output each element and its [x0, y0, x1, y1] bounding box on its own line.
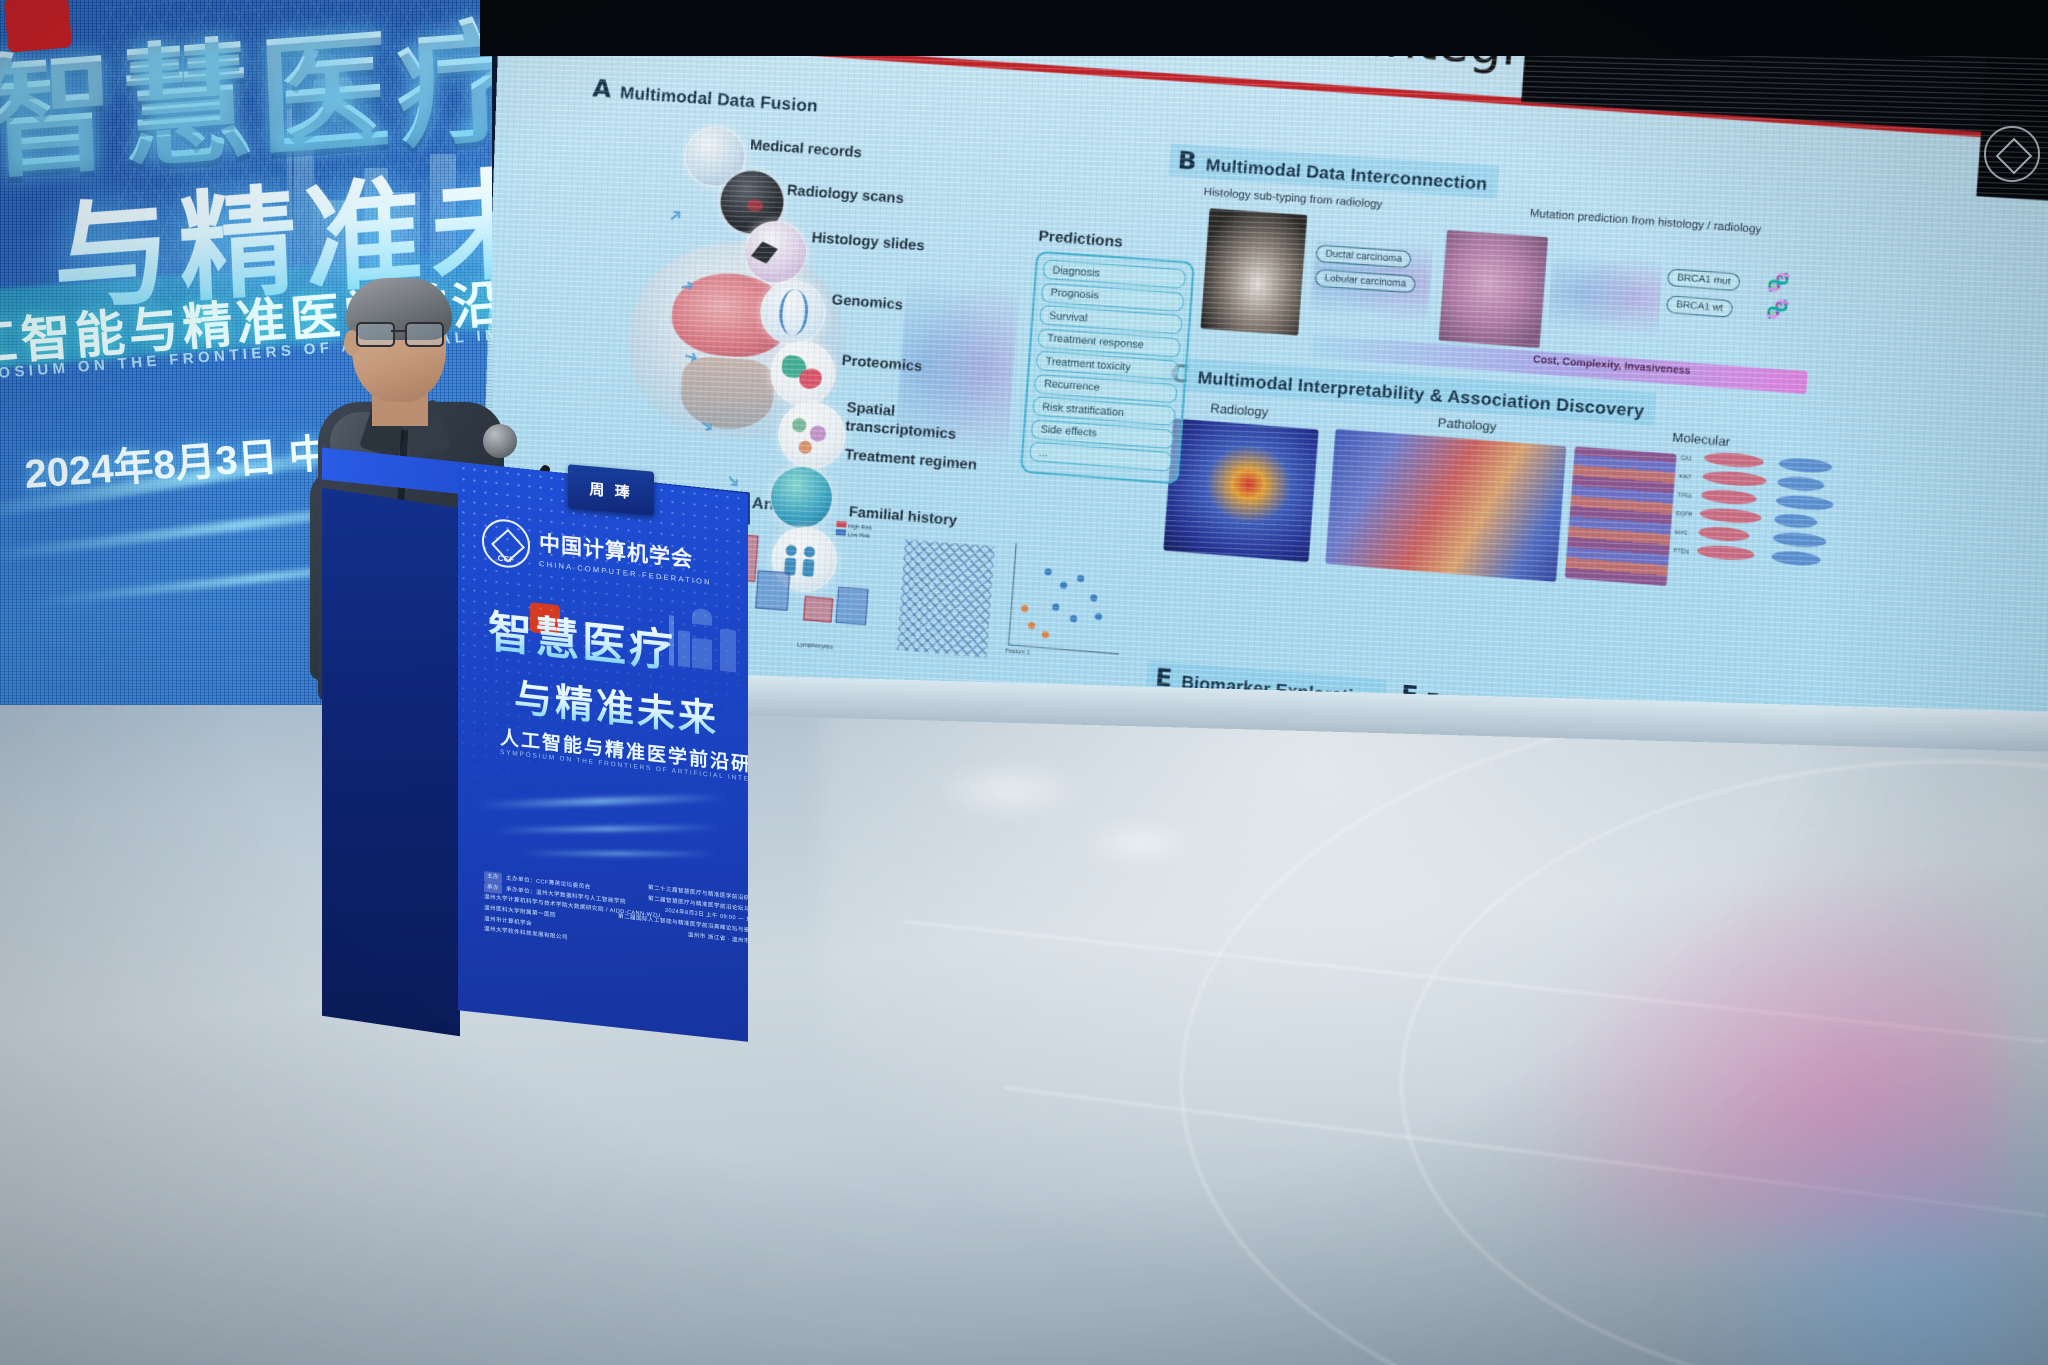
- eyeglasses: [356, 322, 442, 344]
- neural-network-graphic: [1546, 241, 1664, 348]
- section-a-header: A Multimodal Data Fusion: [592, 74, 819, 117]
- modality-label: Medical records: [749, 137, 862, 161]
- mri-image: [1200, 208, 1307, 335]
- modality-label: Genomics: [831, 292, 903, 313]
- floor-spotlight: [1080, 820, 1200, 866]
- section-title: Multimodal Data Fusion: [619, 83, 818, 117]
- ceiling-dark-band: [480, 0, 2048, 56]
- section-b-caption-left: Histology sub-typing from radiology: [1203, 186, 1383, 211]
- podium-left-face: [322, 488, 460, 1037]
- predictions-list: Diagnosis Prognosis Survival Treatment r…: [1020, 251, 1195, 484]
- pathology-tiles: [1565, 446, 1677, 586]
- section-letter: B: [1177, 146, 1198, 176]
- section-letter: A: [592, 74, 613, 103]
- ccf-emblem-icon: CCF: [482, 517, 530, 570]
- column-label-radiology: Radiology: [1210, 401, 1269, 420]
- molecular-row-labels: CA1 KI67 TP53 EGFR MYC PTEN: [1673, 449, 1698, 562]
- texture-patterns: [897, 539, 995, 657]
- ccf-mark-text: CCF: [484, 552, 528, 566]
- modality-label: Radiology scans: [786, 183, 904, 208]
- ccf-watermark-icon: [1984, 126, 2040, 182]
- predictions-title: Predictions: [1038, 228, 1123, 251]
- molecular-violin-plot: CA1 KI67 TP53 EGFR MYC PTEN: [1671, 445, 1842, 598]
- boxplot-legend: High Risk Low Risk: [835, 521, 891, 546]
- speaker-nameplate: 周 琫: [568, 464, 654, 516]
- speaker-name: 周 琫: [568, 476, 654, 505]
- pathology-map: [1325, 429, 1566, 582]
- floor-blue-glow: [1648, 1045, 2048, 1365]
- stage-scene: 智慧医疗 与精准未来 工智能与精准医学前沿研讨 MPOSIUM ON THE F…: [0, 0, 2048, 1365]
- modality-label: Spatial transcriptomics: [845, 399, 960, 444]
- microphone-head: [483, 424, 517, 458]
- dna-icon: 🧬: [1767, 273, 1791, 295]
- modality-label: Histology slides: [811, 230, 925, 254]
- histology-image: [1439, 230, 1549, 348]
- radiology-heatmap: [1163, 418, 1318, 562]
- section-b-caption-right: Mutation prediction from histology / rad…: [1529, 207, 1761, 236]
- flow-arrow: ➜: [664, 204, 688, 229]
- dna-icon: 🧬: [1766, 300, 1790, 322]
- icon-treatment-regimen: [768, 464, 835, 531]
- floor-spotlight: [930, 760, 1090, 820]
- label-brca1-wt: BRCA1 wt: [1666, 295, 1733, 317]
- red-accent-block: [4, 0, 72, 53]
- podium-swoosh: [518, 851, 717, 856]
- label-brca1-mut: BRCA1 mut: [1667, 268, 1741, 291]
- podium-front-face: CCF 中国计算机学会 CHINA COMPUTER FEDERATION 智慧…: [458, 462, 748, 1042]
- scatter-plot: Feature 1: [1003, 543, 1133, 666]
- column-label-pathology: Pathology: [1437, 415, 1497, 434]
